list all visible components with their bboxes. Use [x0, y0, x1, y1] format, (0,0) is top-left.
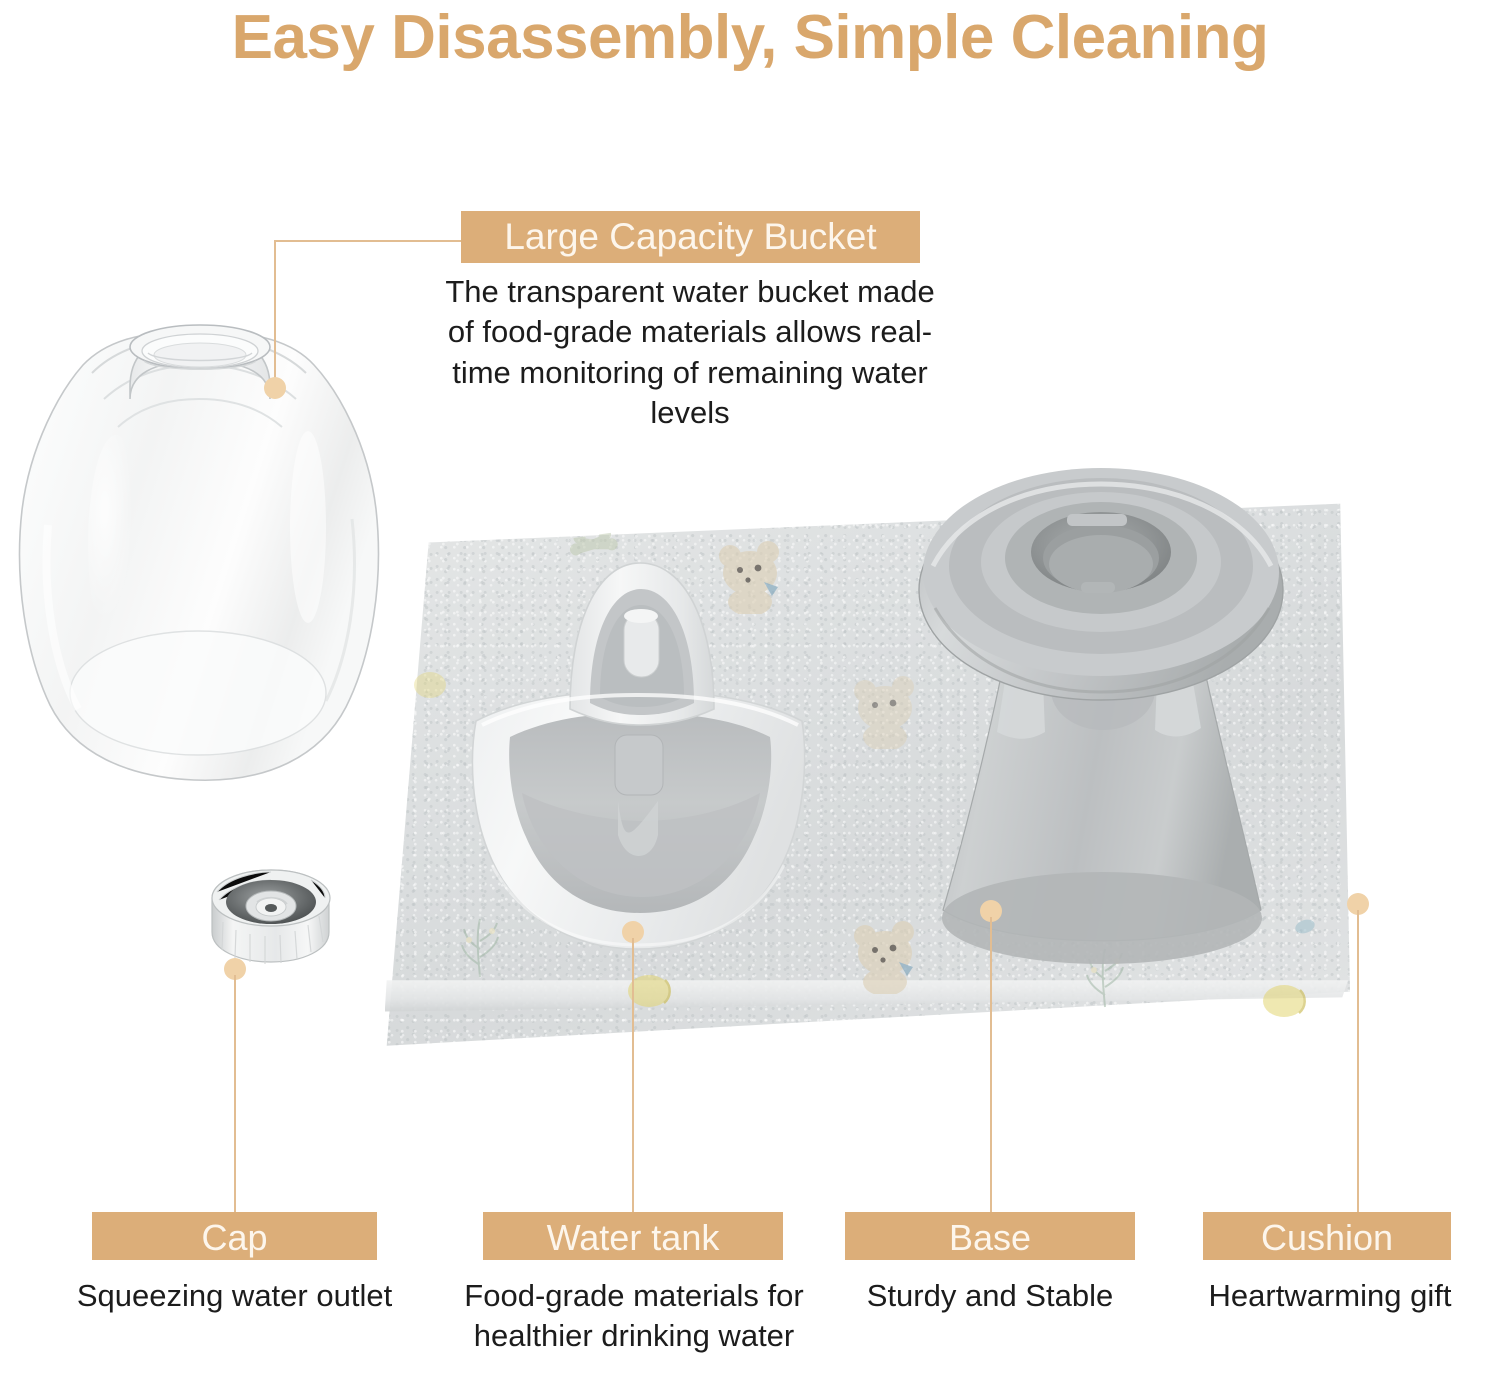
tag-cushion: Cushion — [1203, 1212, 1451, 1260]
water-tank-bowl — [452, 545, 824, 975]
leader-line-cap — [234, 975, 236, 1220]
leader-dot-bucket — [264, 377, 286, 399]
leader-line-bucket-horizontal — [274, 240, 464, 242]
description-large-capacity-bucket: The transparent water bucket made of foo… — [440, 272, 940, 433]
description-cap: Squeezing water outlet — [42, 1276, 427, 1316]
leader-line-cushion — [1357, 910, 1359, 1220]
base-stand — [905, 440, 1295, 1000]
tag-water-tank: Water tank — [483, 1212, 783, 1260]
transparent-water-bucket — [8, 295, 393, 790]
leader-line-bucket-vertical — [274, 240, 276, 385]
page-title: Easy Disassembly, Simple Cleaning — [0, 2, 1500, 73]
tag-cap: Cap — [92, 1212, 377, 1260]
description-water-tank: Food-grade materials for healthier drink… — [448, 1276, 820, 1357]
screw-cap-valve — [203, 862, 338, 974]
description-base: Sturdy and Stable — [840, 1276, 1140, 1316]
leader-line-water-tank — [632, 938, 634, 1220]
tag-base: Base — [845, 1212, 1135, 1260]
leader-line-base — [990, 917, 992, 1220]
tag-large-capacity-bucket: Large Capacity Bucket — [461, 211, 920, 263]
description-cushion: Heartwarming gift — [1180, 1276, 1480, 1316]
